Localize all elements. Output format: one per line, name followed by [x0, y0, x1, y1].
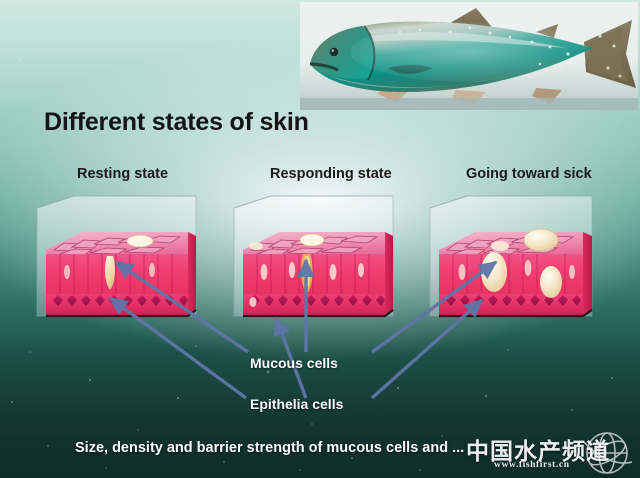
slide-canvas: Different states of skin Resting state R… [0, 0, 640, 478]
diagram-resting-state [37, 196, 196, 316]
diagram-responding-state [234, 196, 393, 316]
slide-caption: Size, density and barrier strength of mu… [75, 440, 464, 456]
watermark: 中国水产频道 www.fishfirst.cn [466, 432, 636, 476]
globe-icon [578, 428, 636, 478]
diagram-going-toward-sick [430, 196, 592, 316]
annotation-label-mucous-cells: Mucous cells [250, 355, 338, 371]
annotation-label-epithelia-cells: Epithelia cells [250, 396, 343, 412]
watermark-url: www.fishfirst.cn [494, 460, 570, 470]
